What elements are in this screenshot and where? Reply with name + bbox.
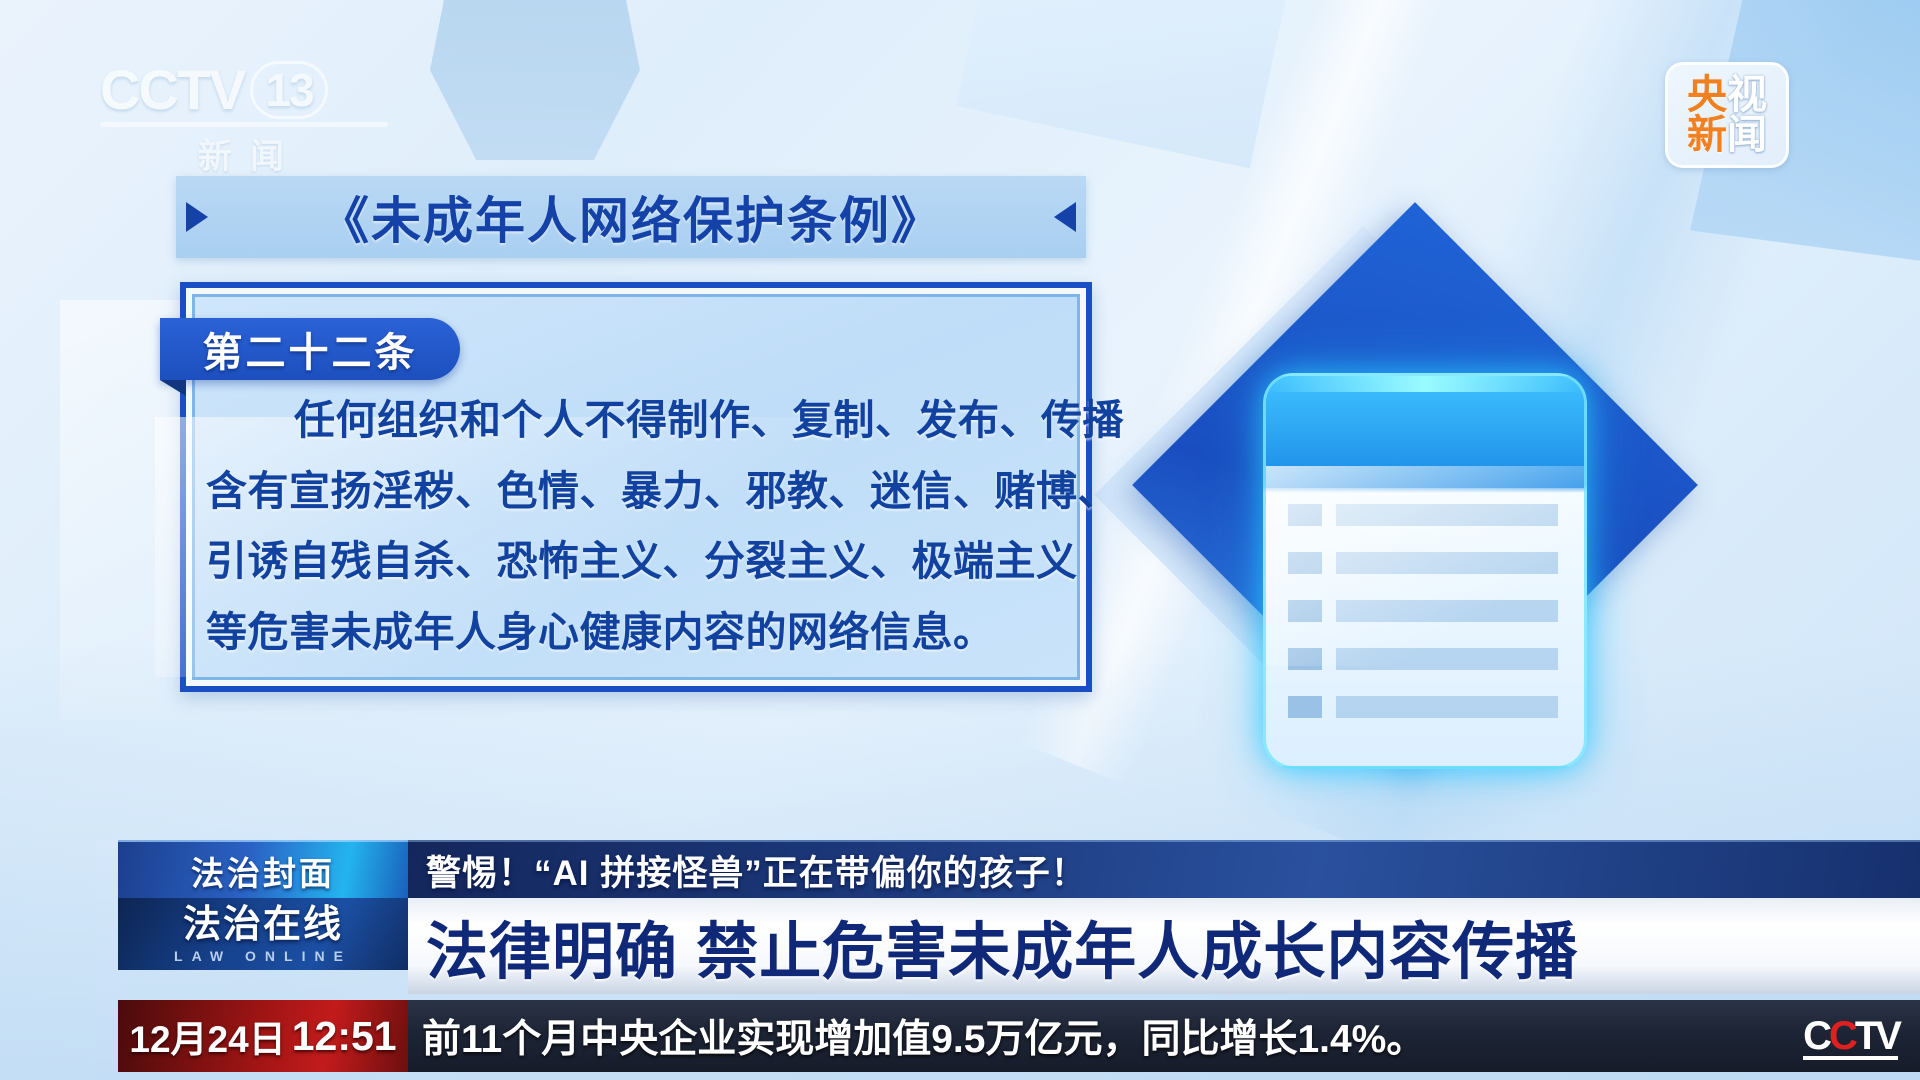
background-shape-hexagon (430, 0, 640, 160)
document-row-line (1336, 648, 1558, 670)
cctv-news-glyph-shi: 视 (1727, 75, 1767, 115)
regulation-title: 《未成年人网络保护条例》 (176, 176, 1086, 258)
document-row (1288, 504, 1584, 526)
cctv-channel-number: 13 (250, 61, 327, 119)
article-body-line: 任何组织和个人不得制作、复制、发布、传播 (206, 392, 1066, 448)
cctv-news-logo: 央 视 新 闻 (1665, 62, 1789, 168)
background-shape-panel (956, 0, 1304, 168)
program-logo: 法治在线 LAW ONLINE (118, 898, 408, 970)
ticker-text: 前11个月中央企业实现增加值9.5万亿元，同比增长1.4%。 (422, 1008, 1425, 1064)
cctv-logo-c1: C (1803, 1016, 1828, 1056)
datetime-badge: 12月24日 12:51 (118, 1000, 408, 1072)
document-row-bullet (1288, 552, 1322, 574)
article-body-line: 等危害未成年人身心健康内容的网络信息。 (206, 604, 1066, 660)
cctv-underline (100, 122, 388, 127)
ticker-date: 12月24日 (129, 1009, 285, 1063)
headline-bar: 法律明确 禁止危害未成年人成长内容传播 (408, 898, 1920, 994)
document-graphic (1095, 255, 1695, 835)
headline-text: 法律明确 禁止危害未成年人成长内容传播 (426, 901, 1578, 991)
cctv-news-glyph-xin: 新 (1687, 115, 1727, 155)
document-row (1288, 600, 1584, 622)
triangle-marker-right-icon (1054, 202, 1076, 232)
article-body-line: 引诱自残自杀、恐怖主义、分裂主义、极端主义 (206, 533, 1066, 589)
program-segment-tag: 法治封面 (118, 840, 408, 900)
document-row (1288, 552, 1584, 574)
document-row-line (1336, 552, 1558, 574)
article-number-tab: 第二十二条 (160, 318, 460, 380)
cctv-corner-logo: C C TV (1803, 1016, 1898, 1056)
document-card-glow (1266, 376, 1584, 392)
document-row-bullet (1288, 600, 1322, 622)
document-row (1288, 648, 1584, 670)
subheadline-text: 警惕！“AI 拼接怪兽”正在带偏你的孩子！ (426, 845, 1087, 896)
article-number-label: 第二十二条 (203, 320, 418, 378)
article-body-line: 含有宣扬淫秽、色情、暴力、邪教、迷信、赌博、 (206, 463, 1066, 519)
news-ticker: 前11个月中央企业实现增加值9.5万亿元，同比增长1.4%。 C C TV (408, 1000, 1920, 1072)
broadcast-screen: CCTV 13 新闻 央 视 新 闻 (0, 0, 1920, 1080)
ticker-time: 12:51 (292, 1013, 397, 1060)
cctv-news-glyph-wen: 闻 (1727, 115, 1767, 155)
cctv-logo-tv: TV (1855, 1016, 1898, 1056)
ticker-row: 12月24日 12:51 前11个月中央企业实现增加值9.5万亿元，同比增长1.… (0, 1000, 1920, 1080)
cctv-news-logo-row-2: 新 闻 (1687, 115, 1767, 155)
program-identity-block: 法治封面 法治在线 LAW ONLINE (118, 840, 408, 970)
document-card-icon (1263, 373, 1587, 769)
regulation-title-banner: 《未成年人网络保护条例》 (176, 176, 1086, 258)
cctv-news-glyph-yang: 央 (1687, 75, 1727, 115)
document-card-header (1266, 376, 1584, 488)
cctv13-channel-bug: CCTV 13 新闻 (100, 60, 400, 170)
document-row-line (1336, 696, 1558, 718)
cctv-sub-label: 新闻 (100, 129, 400, 178)
lower-third: 法治封面 法治在线 LAW ONLINE 警惕！“AI 拼接怪兽”正在带偏你的孩… (0, 840, 1920, 1080)
program-segment-label: 法治封面 (191, 847, 335, 895)
cctv-brand-row: CCTV 13 (100, 60, 400, 120)
document-row (1288, 696, 1584, 718)
document-row-bullet (1288, 648, 1322, 670)
subheadline-bar: 警惕！“AI 拼接怪兽”正在带偏你的孩子！ (408, 840, 1920, 898)
program-name-en: LAW ONLINE (174, 948, 352, 964)
document-card-rows (1266, 504, 1584, 744)
regulation-article-body: 任何组织和个人不得制作、复制、发布、传播 含有宣扬淫秽、色情、暴力、邪教、迷信、… (206, 392, 1066, 660)
document-row-bullet (1288, 504, 1322, 526)
document-row-line (1336, 600, 1558, 622)
cctv-logo-c2: C (1829, 1016, 1854, 1056)
document-row-bullet (1288, 696, 1322, 718)
cctv-news-logo-row-1: 央 视 (1687, 75, 1767, 115)
program-name-cn: 法治在线 (183, 905, 343, 945)
cctv-logo-underline (1803, 1056, 1898, 1060)
document-row-line (1336, 504, 1558, 526)
cctv-brand-text: CCTV (100, 60, 244, 120)
